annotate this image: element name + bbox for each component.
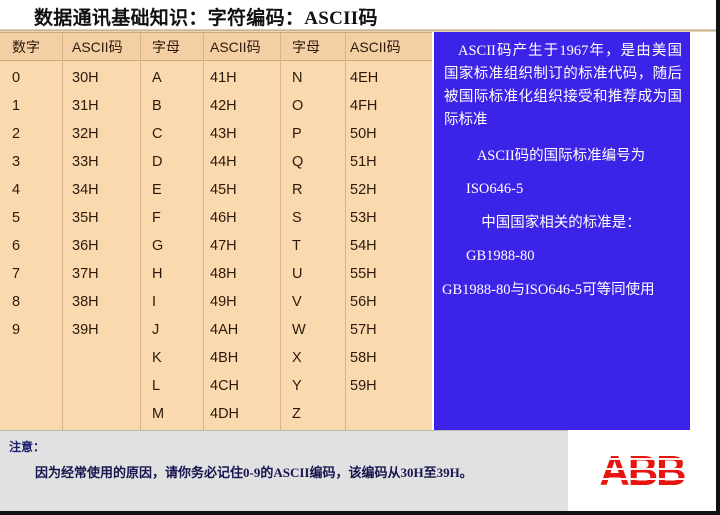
table-cell-code: 45H (210, 177, 237, 203)
page-title: 数据通讯基础知识：字符编码：ASCII码 (34, 3, 378, 30)
table-cell-symbol: K (152, 345, 162, 371)
table-cell-code: 31H (72, 93, 99, 119)
table-cell-code: 34H (72, 177, 99, 203)
table-cell-code: 51H (350, 149, 377, 175)
table-column-divider (140, 33, 141, 431)
table-cell-symbol: 0 (12, 65, 20, 91)
table-cell-symbol: X (292, 345, 302, 371)
table-cell-symbol: H (152, 261, 162, 287)
table-column-divider (345, 33, 346, 431)
info-panel: ASCII码产生于1967年，是由美国国家标准组织制订的标准代码，随后被国际标准… (434, 32, 690, 430)
table-cell-symbol: Z (292, 401, 301, 427)
table-cell-symbol: S (292, 205, 302, 231)
table-cell-code: 52H (350, 177, 377, 203)
info-paragraph-5: GB1988-80 (434, 245, 690, 268)
abb-logo-text: ABB (588, 450, 696, 492)
table-cell-code: 46H (210, 205, 237, 231)
table-cell-symbol: D (152, 149, 162, 175)
note-area: 注意： 因为经常使用的原因，请你务必记住0-9的ASCII编码，该编码从30H至… (0, 430, 568, 511)
table-cell-code: 50H (350, 121, 377, 147)
title-bar: 数据通讯基础知识：字符编码：ASCII码 (0, 0, 716, 32)
table-header-code-1: ASCII码 (72, 33, 123, 61)
info-paragraph-4: 中国国家相关的标准是： (434, 212, 690, 235)
table-cell-symbol: J (152, 317, 159, 343)
table-cell-code: 41H (210, 65, 237, 91)
table-cell-code: 54H (350, 233, 377, 259)
table-header-code-3: ASCII码 (350, 33, 401, 61)
table-header-symbol-1: 数字 (12, 33, 40, 61)
table-cell-code: 32H (72, 121, 99, 147)
table-cell-symbol: R (292, 177, 302, 203)
table-cell-symbol: L (152, 373, 160, 399)
info-paragraph-1: ASCII码产生于1967年，是由美国国家标准组织制订的标准代码，随后被国际标准… (434, 40, 690, 132)
table-header-symbol-2: 字母 (152, 33, 180, 61)
table-cell-symbol: 8 (12, 289, 20, 315)
table-cell-code: 36H (72, 233, 99, 259)
table-column-divider (62, 33, 63, 431)
table-cell-code: 37H (72, 261, 99, 287)
table-cell-symbol: Y (292, 373, 302, 399)
table-cell-code: 53H (350, 205, 377, 231)
table-header-row: 数字ASCII码字母ASCII码字母ASCII码 (0, 33, 432, 61)
slide-bottom-border (0, 511, 716, 515)
note-label: 注意： (9, 438, 45, 455)
table-cell-symbol: Q (292, 149, 303, 175)
table-cell-symbol: 7 (12, 261, 20, 287)
table-cell-code: 47H (210, 233, 237, 259)
table-cell-symbol: U (292, 261, 302, 287)
table-cell-code: 4FH (350, 93, 377, 119)
table-cell-symbol: V (292, 289, 302, 315)
table-cell-code: 42H (210, 93, 237, 119)
table-cell-symbol: 1 (12, 93, 20, 119)
table-cell-symbol: B (152, 93, 162, 119)
table-cell-symbol: 9 (12, 317, 20, 343)
table-cell-code: 49H (210, 289, 237, 315)
info-paragraph-3: ISO646-5 (434, 178, 690, 201)
table-cell-symbol: W (292, 317, 306, 343)
table-cell-symbol: M (152, 401, 164, 427)
table-cell-code: 39H (72, 317, 99, 343)
table-cell-symbol: O (292, 93, 303, 119)
table-cell-code: 55H (350, 261, 377, 287)
table-cell-symbol: N (292, 65, 302, 91)
table-cell-symbol: C (152, 121, 162, 147)
table-cell-symbol: F (152, 205, 161, 231)
table-cell-code: 4EH (350, 65, 378, 91)
table-cell-code: 35H (72, 205, 99, 231)
slide-canvas: 数据通讯基础知识：字符编码：ASCII码 数字ASCII码字母ASCII码字母A… (0, 0, 720, 515)
table-cell-code: 56H (350, 289, 377, 315)
table-header-code-2: ASCII码 (210, 33, 261, 61)
table-cell-code: 48H (210, 261, 237, 287)
table-cell-symbol: T (292, 233, 301, 259)
table-cell-code: 59H (350, 373, 377, 399)
table-cell-symbol: A (152, 65, 162, 91)
logo-area: ABB (568, 430, 716, 511)
table-cell-symbol: 3 (12, 149, 20, 175)
info-paragraph-6: GB1988-80与ISO646-5可等同使用 (434, 279, 690, 302)
abb-logo: ABB (588, 450, 696, 492)
table-cell-code: 33H (72, 149, 99, 175)
info-paragraph-2: ASCII码的国际标准编号为 (434, 145, 690, 168)
ascii-code-table: 数字ASCII码字母ASCII码字母ASCII码 030H131H232H333… (0, 32, 432, 430)
table-header-symbol-3: 字母 (292, 33, 320, 61)
table-cell-symbol: 2 (12, 121, 20, 147)
table-cell-code: 58H (350, 345, 377, 371)
table-cell-code: 38H (72, 289, 99, 315)
table-cell-symbol: P (292, 121, 302, 147)
table-cell-code: 44H (210, 149, 237, 175)
table-column-divider (280, 33, 281, 431)
table-cell-code: 4AH (210, 317, 238, 343)
table-cell-symbol: G (152, 233, 163, 259)
table-cell-code: 30H (72, 65, 99, 91)
table-cell-symbol: 4 (12, 177, 20, 203)
table-cell-symbol: 6 (12, 233, 20, 259)
table-cell-code: 4DH (210, 401, 239, 427)
note-body: 因为经常使用的原因，请你务必记住0-9的ASCII编码，该编码从30H至39H。 (9, 463, 557, 483)
table-cell-code: 57H (350, 317, 377, 343)
table-cell-symbol: I (152, 289, 156, 315)
table-cell-code: 4CH (210, 373, 239, 399)
table-column-divider (203, 33, 204, 431)
table-cell-code: 4BH (210, 345, 238, 371)
table-cell-code: 43H (210, 121, 237, 147)
table-cell-symbol: 5 (12, 205, 20, 231)
table-cell-symbol: E (152, 177, 162, 203)
